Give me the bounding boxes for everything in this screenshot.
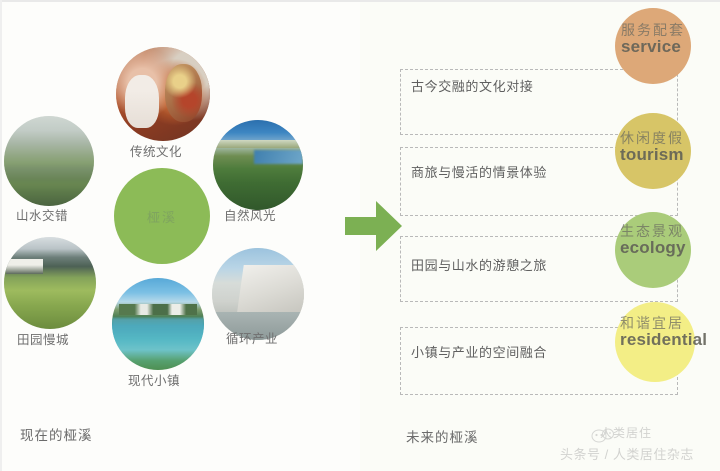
left-border-line (0, 0, 2, 471)
keyword-bubble-tourism-text: 休闲度假 tourism (620, 131, 684, 164)
keyword-service-cn: 服务配套 (621, 23, 685, 38)
photo-pastoral-slow-city-icon (4, 237, 96, 329)
photo-circle-modern-town (112, 278, 204, 370)
core-circle-label: 桠溪 (147, 207, 177, 226)
top-divider-line (0, 0, 720, 2)
photo-circle-traditional-culture (116, 47, 210, 141)
photo-label-circular-industry: 循环产业 (226, 328, 278, 347)
photo-traditional-culture-icon (116, 47, 210, 141)
keyword-service-en: service (621, 38, 685, 56)
caption-present-yaxi: 现在的桠溪 (20, 424, 93, 444)
right-arrow-icon (345, 198, 403, 254)
keyword-bubble-service-text: 服务配套 service (621, 23, 685, 56)
photo-natural-scenery-icon (213, 120, 303, 210)
photo-circle-circular-industry (212, 248, 304, 340)
caption-future-yaxi: 未来的桠溪 (406, 426, 479, 446)
strategy-box-3-text: 田园与山水的游憩之旅 (411, 255, 547, 274)
photo-circular-industry-icon (212, 248, 304, 340)
keyword-bubble-ecology-text: 生态景观 ecology (620, 224, 686, 257)
photo-label-pastoral-slow-city: 田园慢城 (17, 329, 69, 348)
keyword-residential-cn: 和谐宜居 (620, 316, 707, 331)
keyword-tourism-cn: 休闲度假 (620, 131, 684, 146)
keyword-tourism-en: tourism (620, 146, 684, 164)
core-circle-yaxi: 桠溪 (114, 168, 210, 264)
photo-circle-mountains-waters (4, 116, 94, 206)
photo-label-traditional-culture: 传统文化 (130, 141, 182, 160)
watermark: 人类居住 头条号 / 人类居住杂志 (560, 424, 718, 468)
photo-circle-pastoral-slow-city (4, 237, 96, 329)
strategy-box-1-text: 古今交融的文化对接 (411, 76, 533, 95)
strategy-box-4-text: 小镇与产业的空间融合 (411, 342, 547, 361)
watermark-line1: 人类居住 (600, 424, 652, 441)
slide-canvas: 山水交错 传统文化 自然风光 田园慢城 现代小镇 循环产业 桠溪 古今交融的文化… (0, 0, 720, 471)
keyword-bubble-residential-text: 和谐宜居 residential (620, 316, 707, 349)
keyword-ecology-cn: 生态景观 (620, 224, 686, 239)
watermark-line2: 头条号 / 人类居住杂志 (560, 444, 694, 463)
keyword-residential-en: residential (620, 331, 707, 349)
keyword-ecology-en: ecology (620, 239, 686, 257)
photo-circle-natural-scenery (213, 120, 303, 210)
strategy-box-2-text: 商旅与慢活的情景体验 (411, 162, 547, 181)
photo-label-mountains-waters: 山水交错 (16, 205, 68, 224)
photo-label-modern-town: 现代小镇 (128, 370, 180, 389)
photo-mountains-waters-icon (4, 116, 94, 206)
photo-modern-town-icon (112, 278, 204, 370)
photo-label-natural-scenery: 自然风光 (224, 205, 276, 224)
